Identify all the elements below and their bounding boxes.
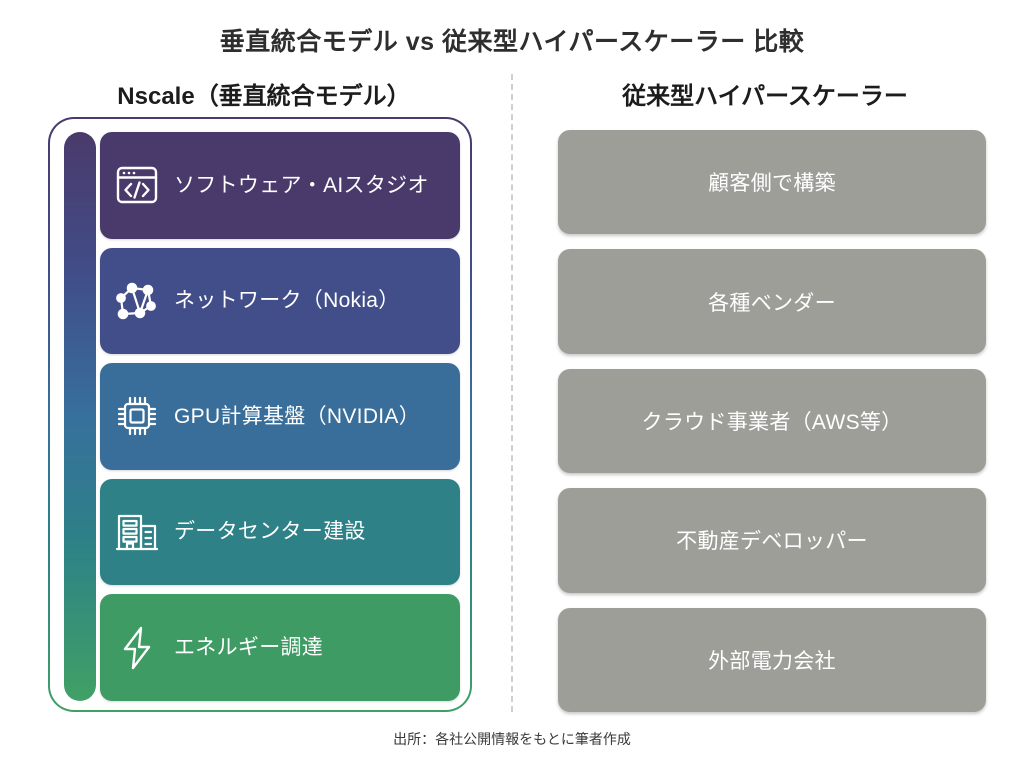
layer-card-gpu[interactable]: GPU計算基盤（NVIDIA） (100, 363, 460, 470)
layer-card-datacenter[interactable]: データセンター建設 (100, 479, 460, 586)
layer-label: データセンター建設 (174, 519, 366, 544)
column-header-left: Nscale（垂直統合モデル） (48, 76, 480, 111)
hyperscaler-label: 各種ベンダー (708, 287, 836, 317)
vertical-stack-frame-inner: ソフトウェア・AIスタジオ (50, 119, 470, 710)
gradient-spine-bar (64, 132, 96, 701)
hyperscaler-label: 顧客側で構築 (708, 167, 836, 197)
hyperscaler-label: クラウド事業者（AWS等） (642, 406, 903, 436)
hyperscaler-label: 外部電力会社 (708, 645, 836, 675)
page-title: 垂直統合モデル vs 従来型ハイパースケーラー 比較 (0, 22, 1024, 58)
source-note: 出所：各社公開情報をもとに筆者作成 (0, 729, 1024, 749)
left-layer-list: ソフトウェア・AIスタジオ (100, 132, 460, 701)
right-layer-list: 顧客側で構築 各種ベンダー クラウド事業者（AWS等） 不動産デベロッパー 外部… (558, 130, 986, 712)
hyperscaler-card-external-power-company[interactable]: 外部電力会社 (558, 608, 986, 712)
layer-label: GPU計算基盤（NVIDIA） (174, 404, 420, 429)
layer-label: ソフトウェア・AIスタジオ (174, 173, 429, 198)
building-icon (114, 509, 160, 555)
hyperscaler-card-vendors[interactable]: 各種ベンダー (558, 249, 986, 353)
hyperscaler-card-cloud-provider[interactable]: クラウド事業者（AWS等） (558, 369, 986, 473)
column-header-right: 従来型ハイパースケーラー (545, 76, 985, 111)
code-window-icon (114, 162, 160, 208)
layer-label: ネットワーク（Nokia） (174, 288, 400, 313)
lightning-bolt-icon (114, 625, 160, 671)
layer-card-energy[interactable]: エネルギー調達 (100, 594, 460, 701)
layer-card-network[interactable]: ネットワーク（Nokia） (100, 248, 460, 355)
vertical-stack-frame: ソフトウェア・AIスタジオ (48, 117, 472, 712)
layer-label: エネルギー調達 (174, 635, 323, 660)
network-nodes-icon (114, 278, 160, 324)
hyperscaler-card-real-estate-developer[interactable]: 不動産デベロッパー (558, 488, 986, 592)
column-divider (511, 74, 513, 712)
cpu-chip-icon (114, 393, 160, 439)
layer-card-software[interactable]: ソフトウェア・AIスタジオ (100, 132, 460, 239)
hyperscaler-label: 不動産デベロッパー (676, 525, 868, 555)
hyperscaler-card-customer-build[interactable]: 顧客側で構築 (558, 130, 986, 234)
